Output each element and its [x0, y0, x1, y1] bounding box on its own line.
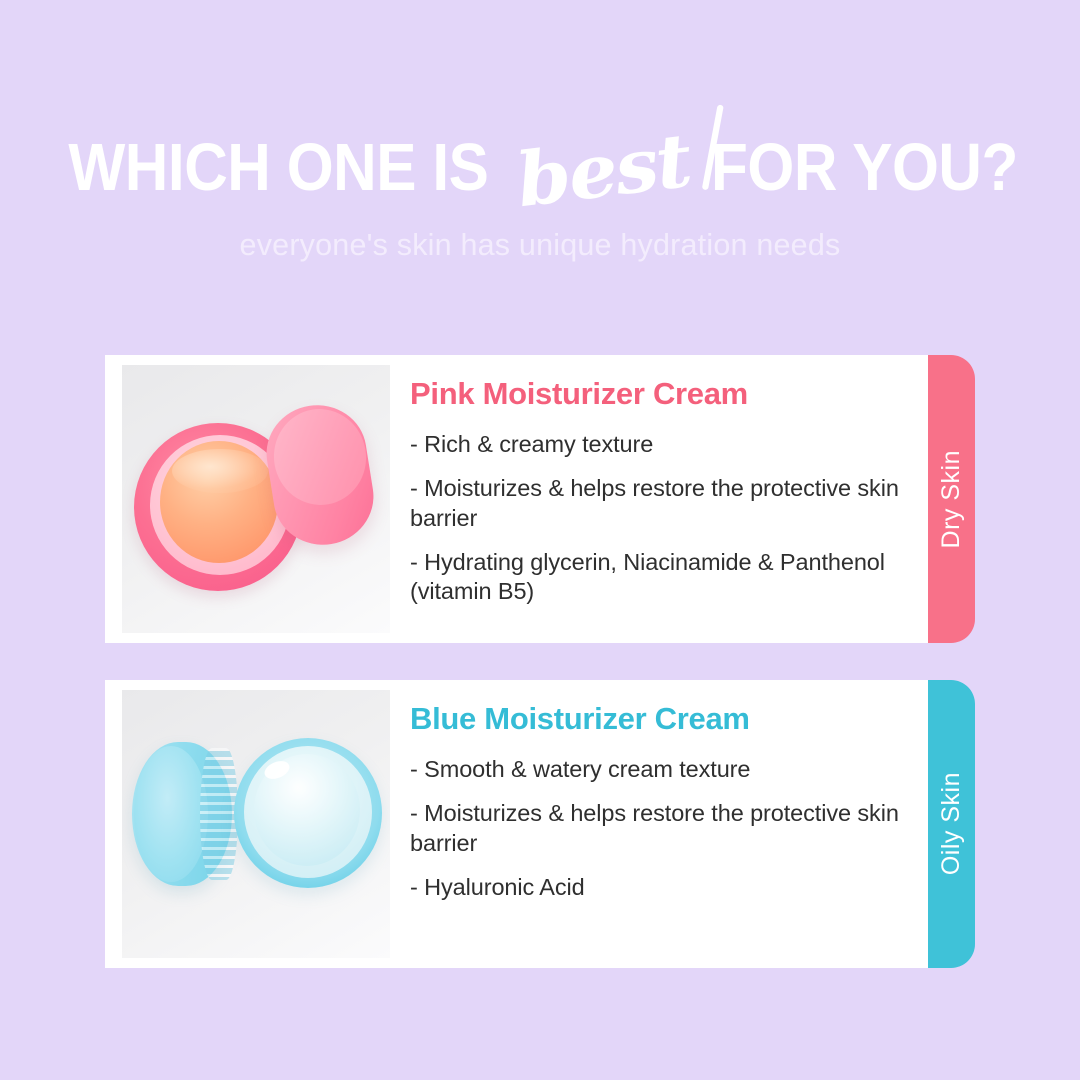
blue-product-title: Blue Moisturizer Cream	[410, 702, 900, 736]
pink-product-title: Pink Moisturizer Cream	[410, 377, 900, 411]
blue-jar-lid-threads-shape	[200, 748, 238, 880]
headline-prefix: WHICH ONE IS	[68, 134, 488, 201]
page-title: WHICH ONE IS best FOR YOU?	[0, 128, 1080, 202]
pink-card-text: Pink Moisturizer Cream - Rich & creamy t…	[390, 355, 930, 607]
pink-bullet-1: - Rich & creamy texture	[410, 430, 900, 460]
page-subtitle: everyone's skin has unique hydration nee…	[0, 228, 1080, 263]
skin-type-tab-oily[interactable]: Oily Skin	[928, 680, 975, 968]
skin-type-tab-dry-label: Dry Skin	[937, 450, 966, 548]
product-card-pink: Pink Moisturizer Cream - Rich & creamy t…	[105, 355, 930, 643]
blue-moisturizer-jar-photo	[122, 690, 390, 958]
skin-type-tab-dry[interactable]: Dry Skin	[928, 355, 975, 643]
headline-suffix: FOR YOU?	[711, 134, 1018, 201]
pink-bullet-3: - Hydrating glycerin, Niacinamide & Pant…	[410, 548, 900, 608]
blue-jar-lid-face-shape	[134, 746, 208, 882]
blue-bullet-2: - Moisturizes & helps restore the protec…	[410, 799, 900, 859]
blue-bullet-3: - Hyaluronic Acid	[410, 873, 900, 903]
header: WHICH ONE IS best FOR YOU? everyone's sk…	[0, 128, 1080, 263]
pink-cream-highlight-shape	[172, 449, 268, 493]
pink-bullet-2: - Moisturizes & helps restore the protec…	[410, 474, 900, 534]
headline-script-word: best	[504, 123, 702, 220]
product-card-blue: Blue Moisturizer Cream - Smooth & watery…	[105, 680, 930, 968]
blue-bullet-1: - Smooth & watery cream texture	[410, 755, 900, 785]
pink-moisturizer-jar-photo	[122, 365, 390, 633]
blue-card-text: Blue Moisturizer Cream - Smooth & watery…	[390, 680, 930, 902]
skin-type-tab-oily-label: Oily Skin	[937, 772, 966, 875]
